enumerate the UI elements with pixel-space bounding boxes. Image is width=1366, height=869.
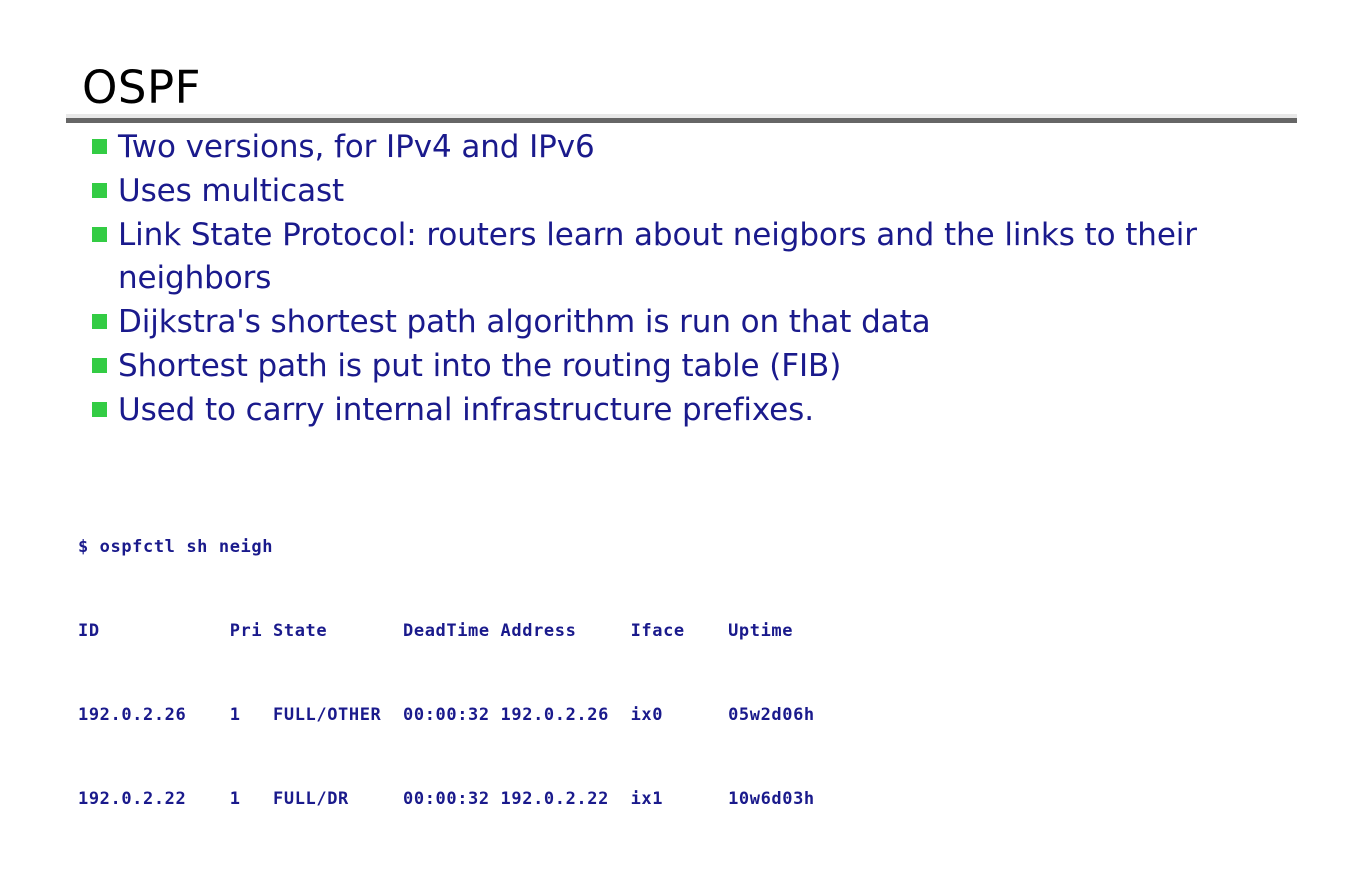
terminal-prompt-line: $ ospfctl sh neigh [78,533,815,561]
terminal-output: $ ospfctl sh neigh ID Pri State DeadTime… [78,477,815,869]
page-title: OSPF [82,63,201,113]
square-bullet-icon [92,227,107,242]
square-bullet-icon [92,183,107,198]
title-divider-bar [66,118,1297,123]
bullet-list: Two versions, for IPv4 and IPv6 Uses mul… [92,126,1272,433]
list-item: Two versions, for IPv4 and IPv6 [92,126,1272,169]
list-item: Used to carry internal infrastructure pr… [92,389,1272,432]
slide-canvas: OSPF Two versions, for IPv4 and IPv6 Use… [0,0,1366,768]
table-row: 192.0.2.26 1 FULL/OTHER 00:00:32 192.0.2… [78,701,815,729]
square-bullet-icon [92,358,107,373]
title-divider [66,114,1297,123]
square-bullet-icon [92,314,107,329]
square-bullet-icon [92,139,107,154]
list-item-label: Link State Protocol: routers learn about… [118,214,1272,300]
list-item: Shortest path is put into the routing ta… [92,345,1272,388]
list-item-label: Two versions, for IPv4 and IPv6 [118,126,1272,169]
list-item: Uses multicast [92,170,1272,213]
list-item-label: Uses multicast [118,170,1272,213]
list-item: Link State Protocol: routers learn about… [92,214,1272,300]
list-item-label: Dijkstra's shortest path algorithm is ru… [118,301,1272,344]
list-item-label: Used to carry internal infrastructure pr… [118,389,1272,432]
list-item: Dijkstra's shortest path algorithm is ru… [92,301,1272,344]
list-item-label: Shortest path is put into the routing ta… [118,345,1272,388]
table-row: 192.0.2.22 1 FULL/DR 00:00:32 192.0.2.22… [78,785,815,813]
square-bullet-icon [92,402,107,417]
terminal-header-row: ID Pri State DeadTime Address Iface Upti… [78,617,815,645]
